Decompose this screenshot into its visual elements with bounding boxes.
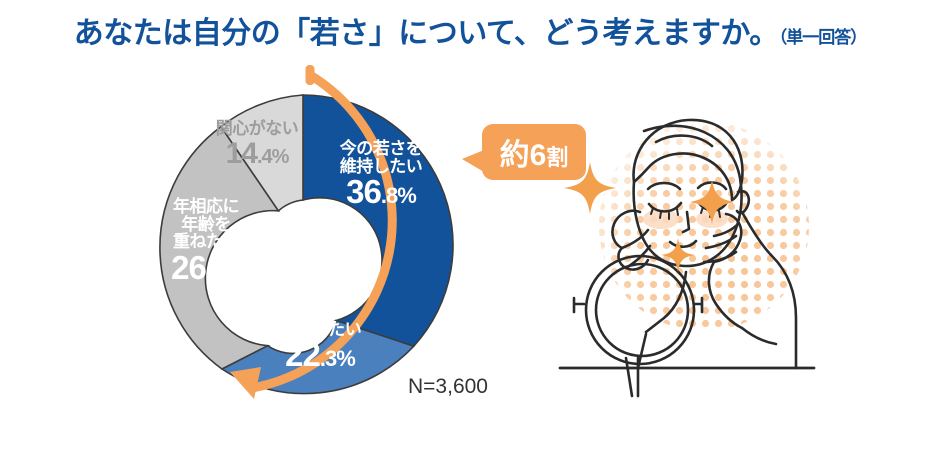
mirror-hinge-left <box>574 298 584 312</box>
donut-chart: 今の若さを 維持したい 36.8% 今より 若返りたい 22.3% 年相応に 年… <box>130 48 490 438</box>
sample-size-label: N=3,600 <box>408 375 488 399</box>
page-title-main: あなたは自分の「若さ」について、どう考えますか。 <box>74 17 779 50</box>
callout-number: 約6 <box>500 139 547 172</box>
arrow-tail-cap <box>306 65 315 85</box>
infographic-root: あなたは自分の「若さ」について、どう考えますか。（単一回答） <box>0 0 940 449</box>
forearm-right <box>742 328 776 344</box>
slice-keep-youth[interactable] <box>303 95 453 346</box>
callout-pointer <box>462 150 484 172</box>
woman-touching-cheek-icon <box>556 96 886 436</box>
page-title: あなたは自分の「若さ」について、どう考えますか。（単一回答） <box>0 8 940 52</box>
page-title-subnote: （単一回答） <box>779 28 867 47</box>
arrow-head <box>230 367 261 399</box>
